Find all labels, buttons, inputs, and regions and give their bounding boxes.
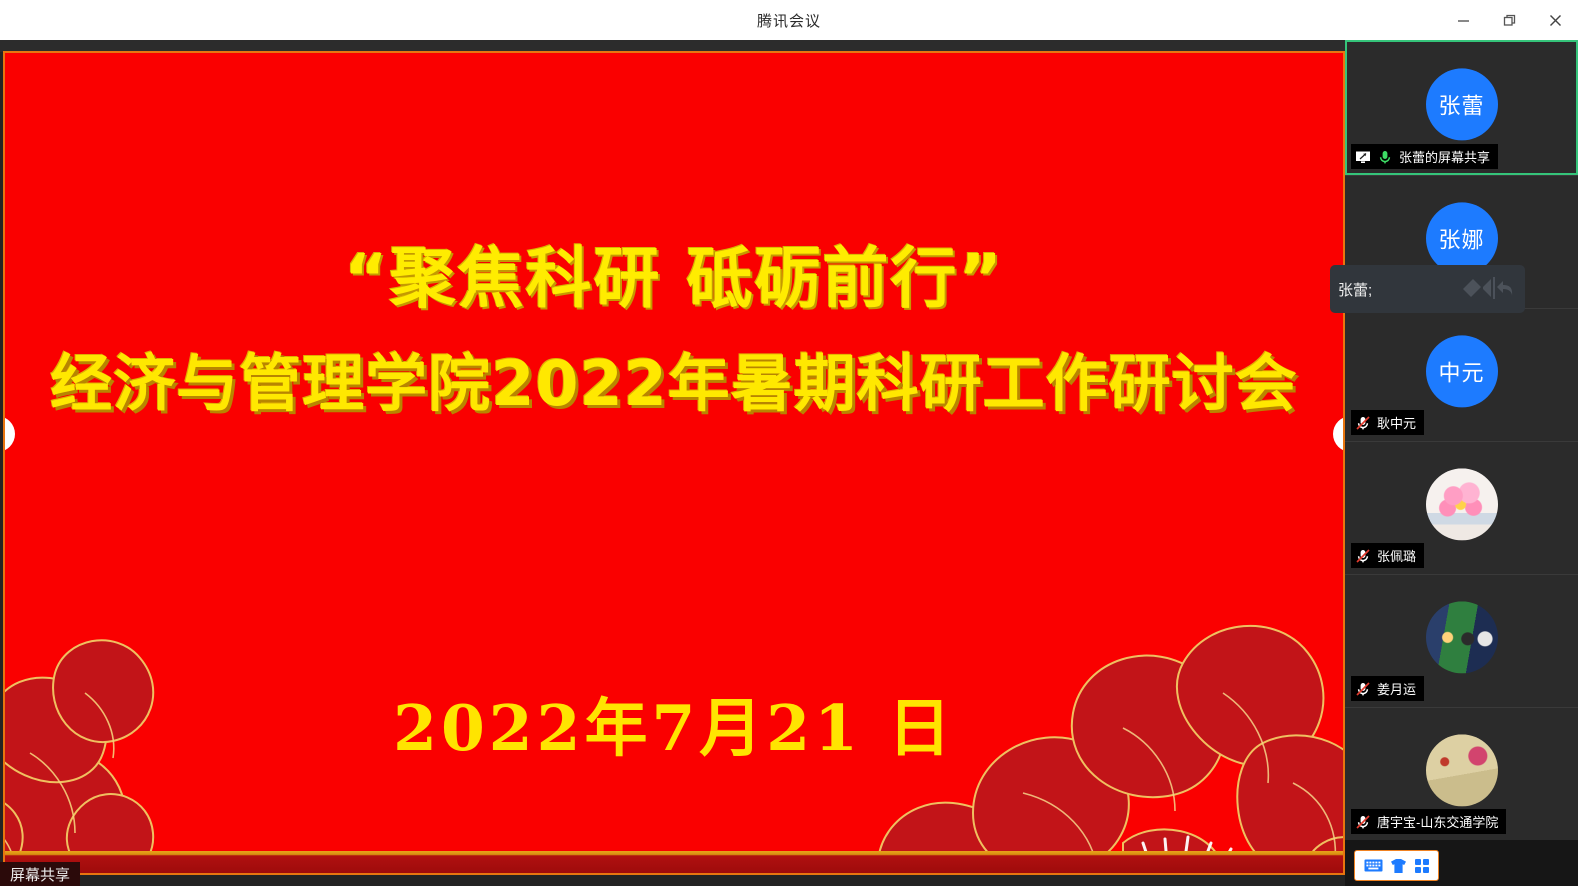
mic-muted-icon bbox=[1355, 415, 1371, 431]
participant-chip: 耿中元 bbox=[1351, 410, 1424, 435]
shared-screen-frame[interactable]: “聚焦科研 砥砺前行” 经济与管理学院2022年暑期科研工作研讨会 2022年7… bbox=[3, 51, 1345, 875]
presentation-slide: “聚焦科研 砥砺前行” 经济与管理学院2022年暑期科研工作研讨会 2022年7… bbox=[5, 53, 1343, 873]
participant-tile-jiangyueyun[interactable]: 姜月运 bbox=[1345, 574, 1578, 707]
window-title: 腾讯会议 bbox=[757, 10, 821, 31]
shared-screen-stage: “聚焦科研 砥砺前行” 经济与管理学院2022年暑期科研工作研讨会 2022年7… bbox=[0, 40, 1345, 886]
tencent-meeting-window: 腾讯会议 bbox=[0, 0, 1578, 886]
window-controls bbox=[1440, 0, 1578, 40]
avatar: 张蕾 bbox=[1426, 68, 1498, 140]
mic-on-icon bbox=[1377, 149, 1393, 165]
participant-name: 张蕾的屏幕共享 bbox=[1399, 147, 1490, 166]
ime-toolbar[interactable] bbox=[1354, 850, 1439, 881]
participant-chip: 唐宇宝-山东交通学院 bbox=[1351, 809, 1506, 834]
participant-tile-zhanglei[interactable]: 张蕾 张蕾的屏幕共享 bbox=[1345, 40, 1578, 175]
apps-icon[interactable] bbox=[1414, 858, 1430, 874]
participant-name: 耿中元 bbox=[1377, 413, 1416, 432]
name-popup-text: 张蕾; bbox=[1338, 279, 1372, 300]
participant-name: 唐宇宝-山东交通学院 bbox=[1377, 812, 1498, 831]
close-button[interactable] bbox=[1532, 0, 1578, 40]
screen-share-icon bbox=[1355, 149, 1371, 165]
participant-tile-zhangpeilu[interactable]: 张佩璐 bbox=[1345, 441, 1578, 574]
slide-bottom-bar bbox=[5, 851, 1343, 873]
slide-title: “聚焦科研 砥砺前行” bbox=[5, 225, 1343, 321]
share-status-label: 屏幕共享 bbox=[0, 862, 80, 886]
participant-tile-gengzhongyuan[interactable]: 中元 耿中元 bbox=[1345, 308, 1578, 441]
participant-name: 张佩璐 bbox=[1377, 546, 1416, 565]
participant-tile-tangyubao[interactable]: 唐宇宝-山东交通学院 bbox=[1345, 707, 1578, 840]
keyboard-icon[interactable] bbox=[1364, 858, 1383, 873]
meeting-content: “聚焦科研 砥砺前行” 经济与管理学院2022年暑期科研工作研讨会 2022年7… bbox=[0, 40, 1578, 886]
window-titlebar: 腾讯会议 bbox=[0, 0, 1578, 40]
participant-rail[interactable]: 张蕾 张蕾的屏幕共享 bbox=[1345, 40, 1578, 886]
mic-muted-icon bbox=[1355, 548, 1371, 564]
participant-name: 姜月运 bbox=[1377, 679, 1416, 698]
participant-chip: 张蕾的屏幕共享 bbox=[1351, 144, 1498, 169]
minimize-button[interactable] bbox=[1440, 0, 1486, 40]
avatar: 中元 bbox=[1426, 335, 1498, 407]
slide-subtitle: 经济与管理学院2022年暑期科研工作研讨会 bbox=[5, 333, 1343, 423]
skin-icon[interactable] bbox=[1390, 858, 1407, 874]
avatar bbox=[1426, 468, 1498, 540]
popup-ghost-icons bbox=[1459, 273, 1515, 303]
mic-muted-icon bbox=[1355, 814, 1371, 830]
avatar bbox=[1426, 601, 1498, 673]
participant-chip: 姜月运 bbox=[1351, 676, 1424, 701]
mic-muted-icon bbox=[1355, 681, 1371, 697]
avatar: 张娜 bbox=[1426, 202, 1498, 274]
name-popup-overlay[interactable]: 张蕾; bbox=[1330, 265, 1525, 313]
avatar bbox=[1426, 734, 1498, 806]
restore-button[interactable] bbox=[1486, 0, 1532, 40]
slide-date: 2022年7月21 日 bbox=[5, 678, 1343, 769]
participant-chip: 张佩璐 bbox=[1351, 543, 1424, 568]
